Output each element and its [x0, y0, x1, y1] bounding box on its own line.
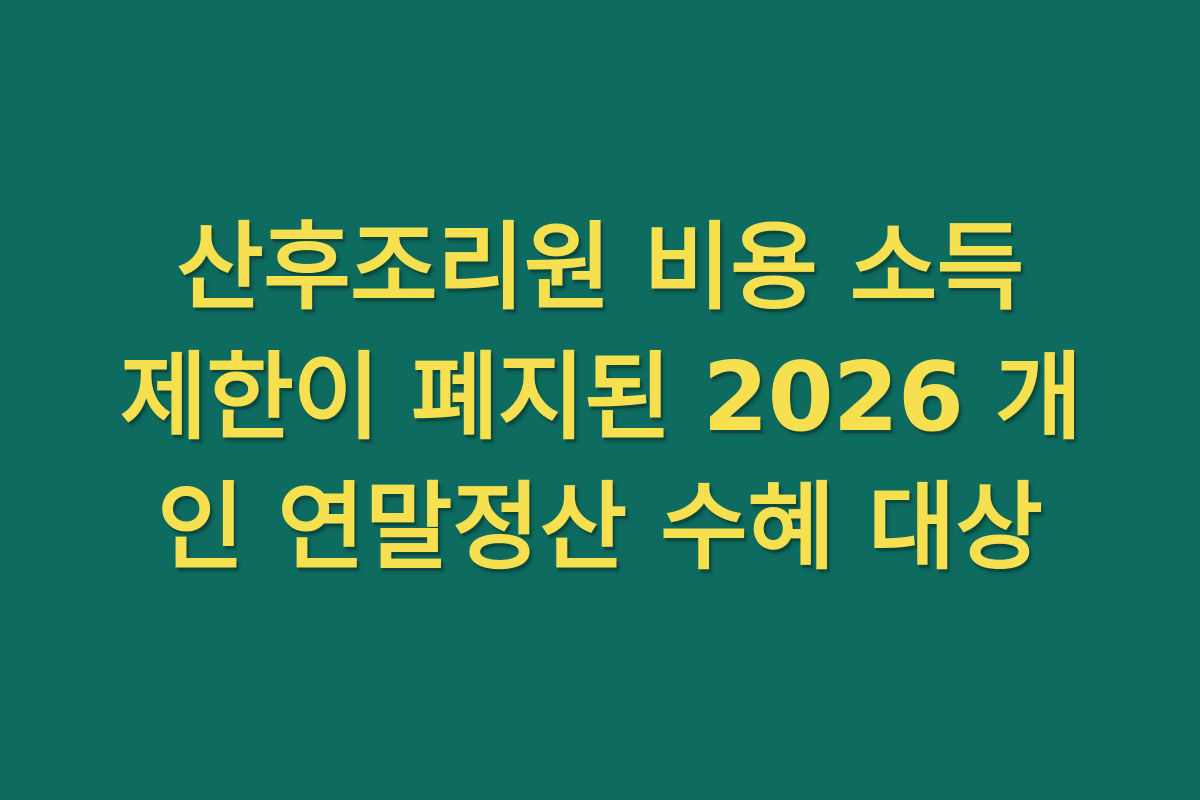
headline-line-2: 제한이 폐지된 2026 개 [120, 333, 1080, 463]
headline-block: 산후조리원 비용 소득 제한이 폐지된 2026 개 인 연말정산 수혜 대상 [120, 203, 1080, 593]
headline-line-1: 산후조리원 비용 소득 [120, 203, 1080, 333]
thumbnail-card: 산후조리원 비용 소득 제한이 폐지된 2026 개 인 연말정산 수혜 대상 [0, 0, 1200, 800]
headline-line-3: 인 연말정산 수혜 대상 [120, 463, 1080, 593]
